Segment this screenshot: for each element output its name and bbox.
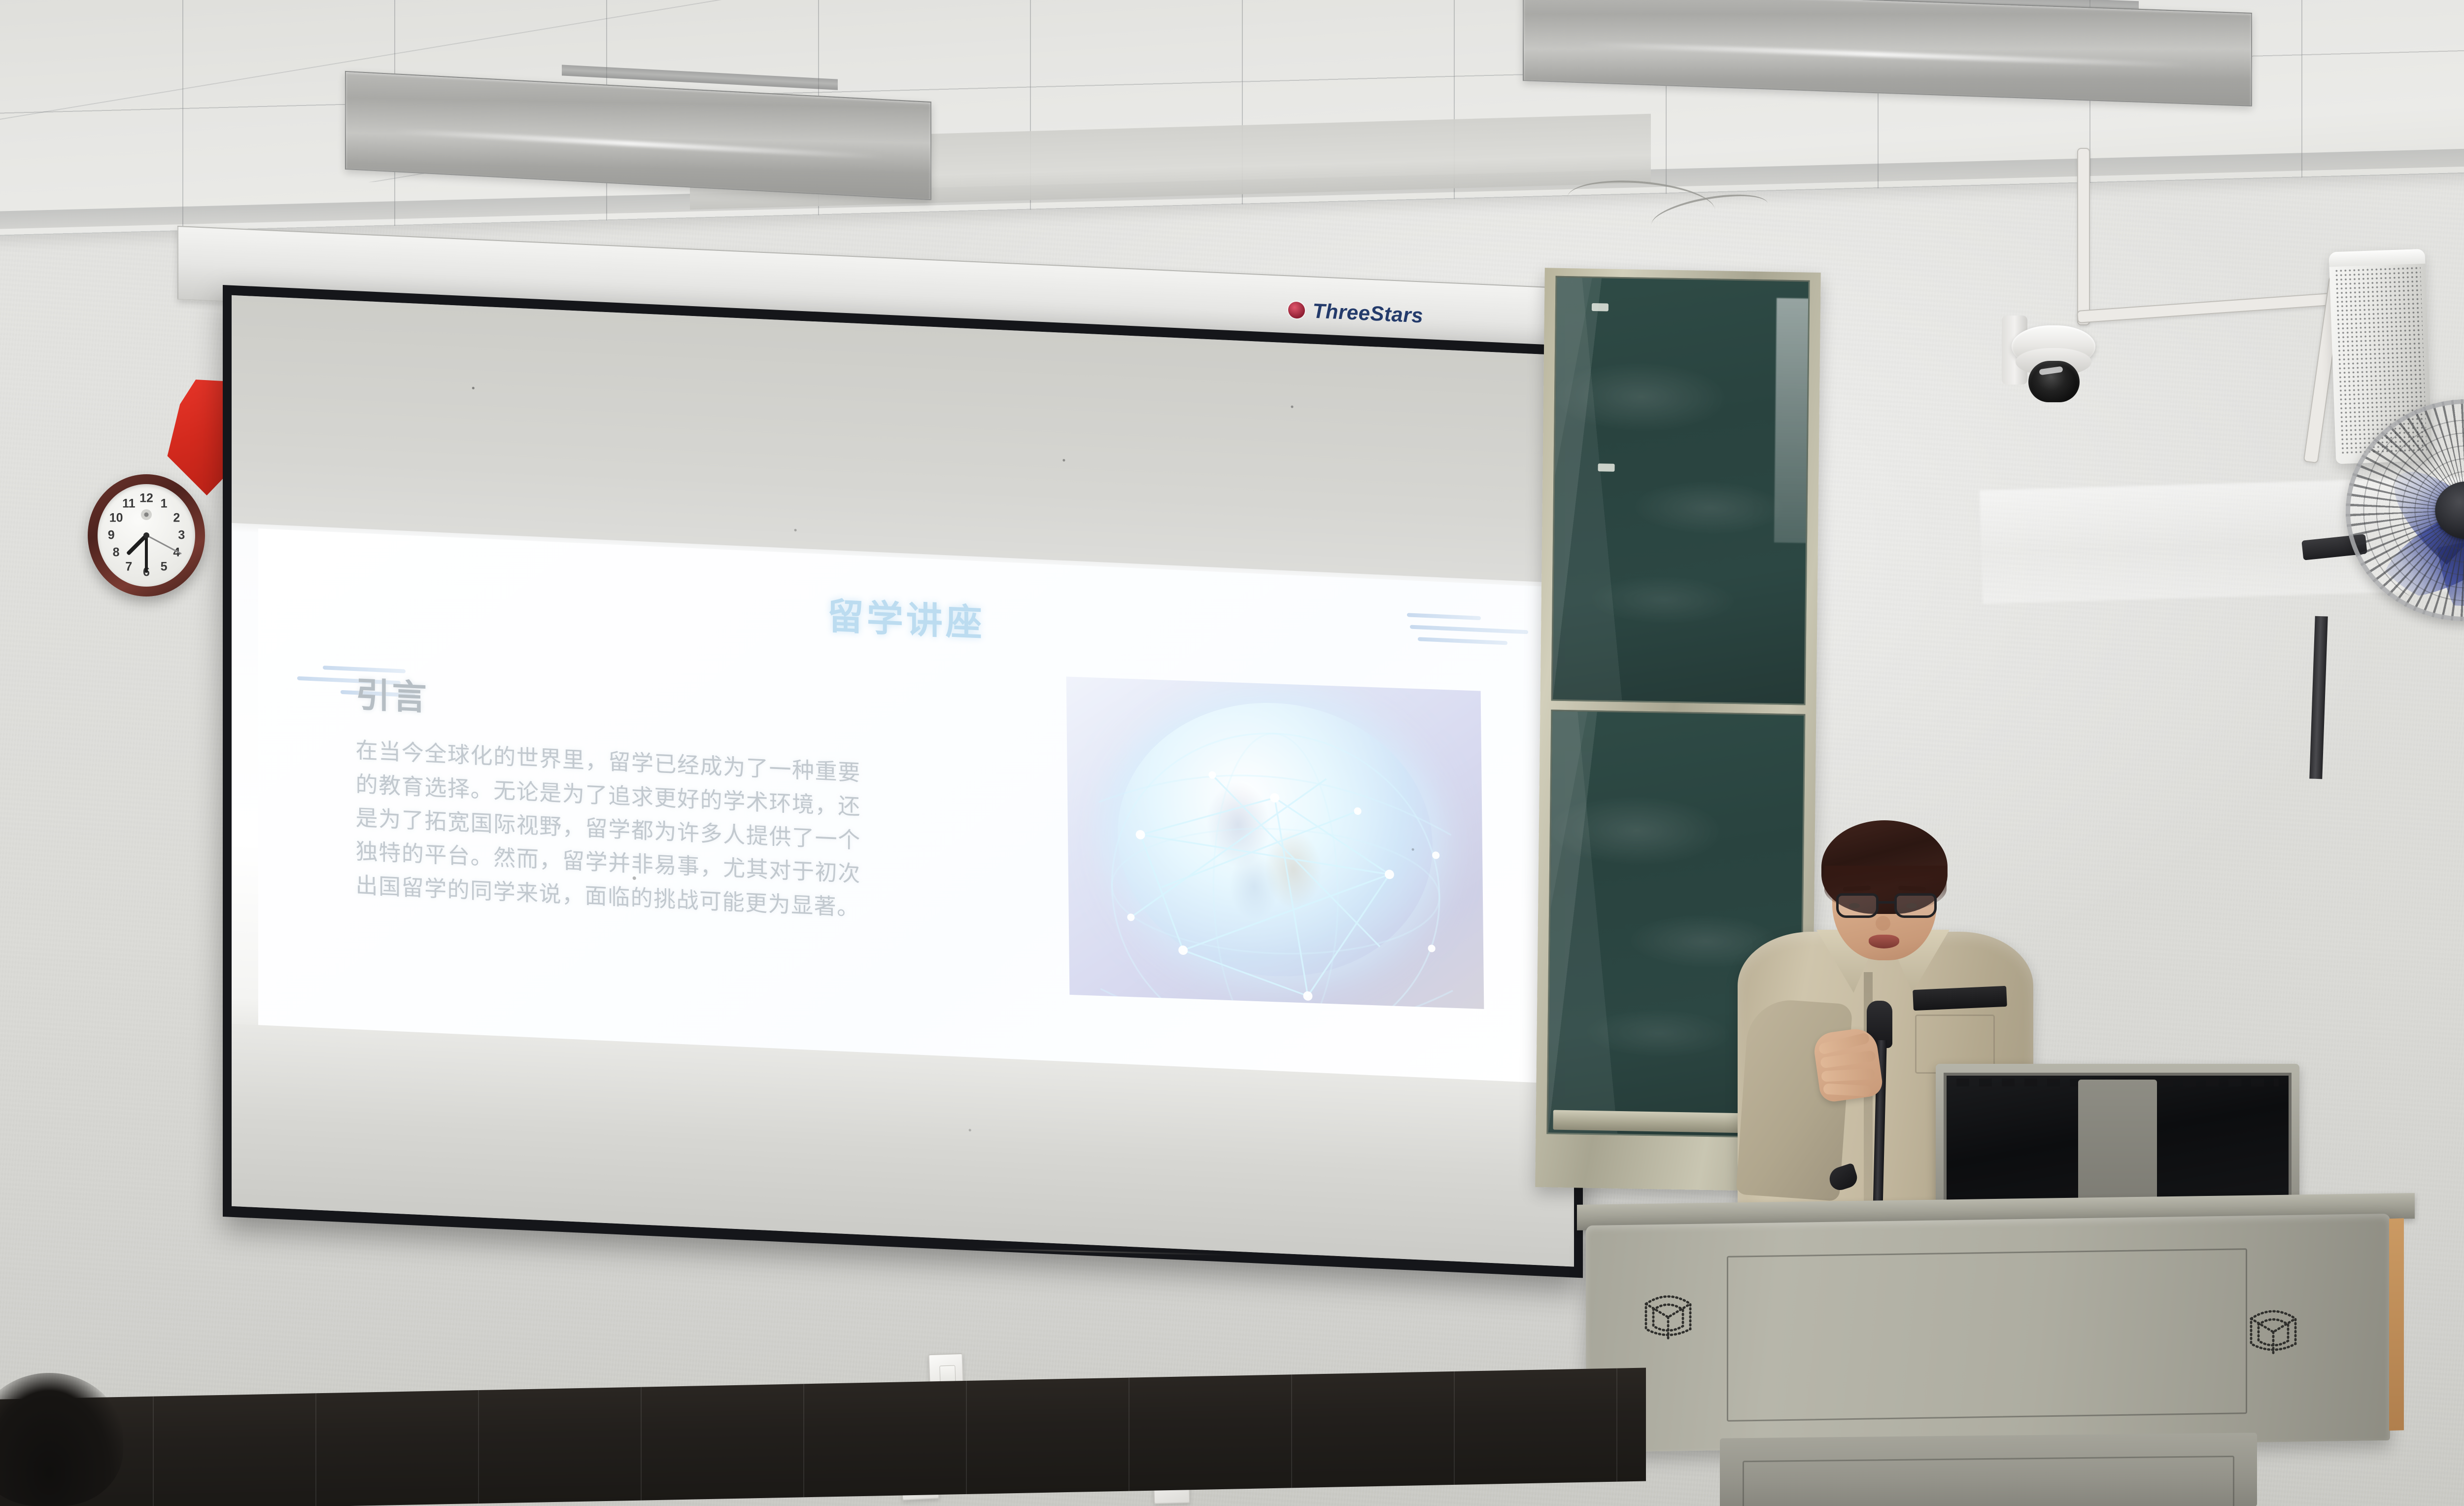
brand-logo-icon	[1288, 301, 1305, 319]
name-badge	[1913, 986, 2007, 1011]
glasses-lens-right	[1894, 893, 1937, 918]
chalk-smears	[1553, 278, 1809, 703]
clock-center-pin	[143, 532, 149, 538]
lectern-vent-emblem	[1631, 1276, 1705, 1350]
board-plastic-wrap	[1774, 298, 1810, 543]
clock-numeral: 10	[109, 511, 123, 525]
lecture-hall-scene: 12 1 2 3 4 5 6 7 8 9 10 11 ThreeStars	[0, 0, 2464, 1506]
clock-second-hand	[146, 535, 181, 555]
globe-network-lines	[1066, 676, 1484, 1009]
lectern-base	[1720, 1433, 2257, 1506]
glasses-lens-left	[1836, 893, 1879, 918]
clock-minute-hand	[145, 535, 148, 573]
clock-numeral: 12	[139, 491, 153, 506]
clock-numeral: 7	[125, 560, 132, 574]
slide-body: 引言 在当今全球化的世界里，留学已经成为了一种重要的教育选择。无论是为了追求更好…	[356, 667, 861, 925]
slide-paragraph: 在当今全球化的世界里，留学已经成为了一种重要的教育选择。无论是为了追求更好的学术…	[356, 734, 861, 925]
cable-conduit	[2077, 148, 2090, 325]
screen-surface: 留学讲座 引言 在当今全球化的世界里，留学已经成为了一种重要的教育选择。无论是为…	[232, 295, 1574, 1267]
lectern-wood-trim	[2389, 1218, 2404, 1431]
dome-security-camera-icon	[2012, 325, 2095, 404]
speaker-top-cap	[2329, 249, 2426, 267]
clock-numeral: 9	[108, 528, 115, 543]
clock-numeral: 3	[178, 528, 185, 543]
screen-brand: ThreeStars	[1288, 298, 1423, 327]
glasses-bridge	[1879, 901, 1894, 904]
presenter-mouth	[1869, 935, 1899, 948]
monitor-stand	[2078, 1080, 2157, 1213]
clock-numeral: 2	[173, 511, 180, 525]
lectern-front-panel	[1727, 1248, 2247, 1422]
wall-fan-icon[interactable]	[2340, 393, 2464, 627]
lectern-vent-emblem	[2236, 1291, 2310, 1365]
monitor-screen[interactable]	[1944, 1073, 2292, 1208]
chalk-piece	[1598, 464, 1614, 472]
presentation-slide: 留学讲座 引言 在当今全球化的世界里，留学已经成为了一种重要的教育选择。无论是为…	[258, 528, 1554, 1084]
podium-monitor[interactable]	[1936, 1064, 2299, 1208]
chalkboard-upper-panel	[1551, 276, 1810, 705]
clock-numeral: 5	[161, 560, 168, 574]
clock-subdial	[141, 509, 152, 520]
projection-screen: 留学讲座 引言 在当今全球化的世界里，留学已经成为了一种重要的教育选择。无论是为…	[223, 285, 1583, 1278]
wall-clock: 12 1 2 3 4 5 6 7 8 9 10 11	[88, 474, 205, 596]
brand-name: ThreeStars	[1313, 299, 1423, 328]
glasses-icon	[1836, 893, 1937, 919]
slide-title: 留学讲座	[258, 561, 1554, 672]
clock-numeral: 8	[113, 546, 120, 560]
lectern-base-panel	[1743, 1456, 2234, 1506]
slide-figure-globe	[1066, 676, 1484, 1009]
slide-heading: 引言	[356, 667, 861, 739]
chalk-piece	[1592, 303, 1608, 312]
clock-numeral: 1	[161, 496, 168, 511]
presenter-nose	[1876, 916, 1890, 931]
clock-numeral: 11	[122, 496, 135, 511]
clock-face: 12 1 2 3 4 5 6 7 8 9 10 11	[98, 484, 195, 587]
